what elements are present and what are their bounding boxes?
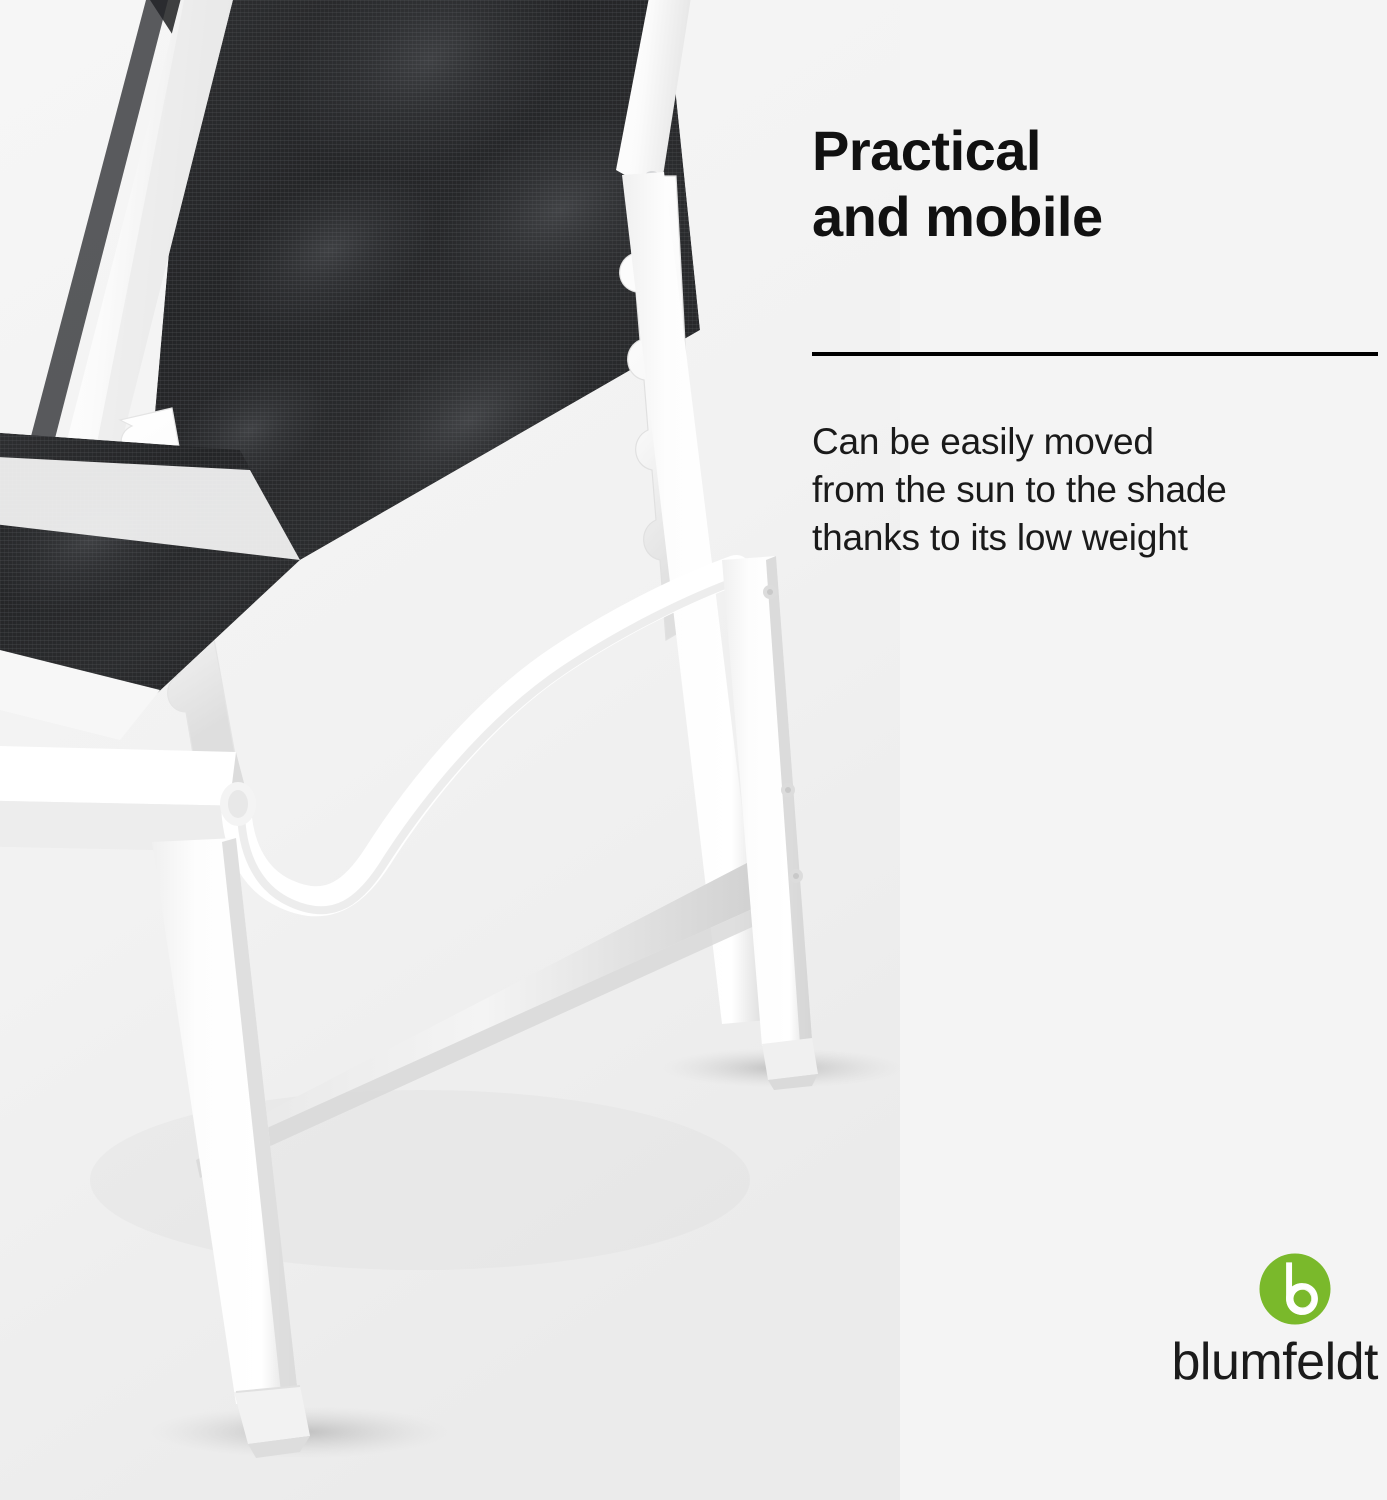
brand-logo: blumfeldt [1128,1252,1378,1388]
foot-cap-rear [762,1038,818,1080]
seat-side-rail-top [0,745,250,806]
page-title: Practical and mobile [812,118,1372,249]
shadow-ambient [90,1090,750,1270]
text-block: Practical and mobile Can be easily moved… [812,118,1372,599]
product-image [0,0,900,1500]
brand-wordmark: blumfeldt [1172,1336,1379,1388]
divider [812,352,1378,356]
body-copy: Can be easily moved from the sun to the … [812,418,1372,562]
product-marketing-banner: Practical and mobile Can be easily moved… [0,0,1387,1500]
blumfeldt-b-circle-icon [1258,1252,1332,1326]
